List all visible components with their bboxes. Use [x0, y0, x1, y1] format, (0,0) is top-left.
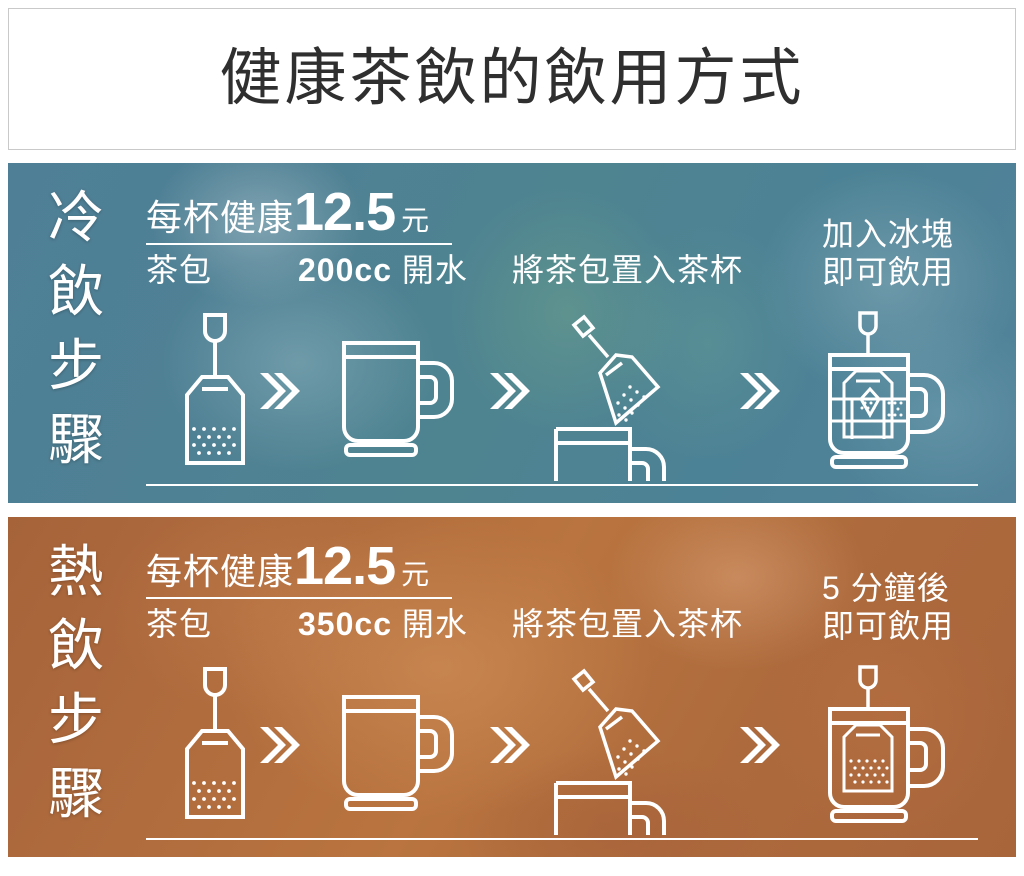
step-2-amount: 200cc: [298, 252, 392, 288]
side-label-char: 冷: [30, 181, 122, 255]
side-label-hot: 熱 飲 步 驟: [30, 535, 122, 841]
step-3-caption: 將茶包置入茶杯: [512, 605, 743, 643]
mug-with-tea-bag-and-ice-icon: [818, 311, 968, 471]
step-3-caption: 將茶包置入茶杯: [512, 251, 743, 289]
step-2-caption: 350cc 開水: [298, 605, 468, 643]
step-2-caption: 200cc 開水: [298, 251, 468, 289]
section-cold-drink: 冷 飲 步 驟 每杯健康 12.5 元 茶包 200cc 開水 將茶包置入茶杯 …: [8, 163, 1016, 503]
infographic-root: 健康茶飲的飲用方式 冷 飲 步 驟 每杯健康 12.5 元 茶包 200c: [0, 0, 1024, 876]
step-4-caption-line2: 即可飲用: [822, 253, 954, 291]
side-label-char: 驟: [30, 403, 122, 477]
step-1-caption: 茶包: [146, 605, 212, 643]
double-chevron-icon: [738, 721, 778, 769]
hot-baseline-rule: [146, 838, 978, 840]
side-label-char: 飲: [30, 609, 122, 683]
tea-bag-into-mug-icon: [548, 665, 698, 825]
step-icons-cold: [138, 311, 998, 471]
side-label-char: 熱: [30, 535, 122, 609]
price-amount: 12.5: [294, 185, 395, 239]
side-label-char: 步: [30, 683, 122, 757]
double-chevron-icon: [258, 721, 298, 769]
price-block-hot: 每杯健康 12.5 元: [146, 539, 456, 599]
price-underline: [146, 243, 452, 245]
step-icons-hot: [138, 665, 998, 825]
step-2-rest: 開水: [392, 252, 468, 288]
price-underline: [146, 597, 452, 599]
price-amount: 12.5: [294, 539, 395, 593]
step-4-caption-line1: 5 分鐘後: [822, 569, 954, 607]
price-prefix: 每杯健康: [146, 552, 294, 592]
price-unit: 元: [401, 560, 429, 590]
side-label-char: 步: [30, 329, 122, 403]
step-captions-hot: 茶包 350cc 開水 將茶包置入茶杯 5 分鐘後 即可飲用: [146, 601, 996, 671]
step-4-caption: 5 分鐘後 即可飲用: [822, 569, 954, 645]
price-unit: 元: [401, 206, 429, 236]
side-label-char: 飲: [30, 255, 122, 329]
mug-with-tea-bag-icon: [818, 665, 968, 825]
step-captions-cold: 茶包 200cc 開水 將茶包置入茶杯 加入冰塊 即可飲用: [146, 247, 996, 317]
step-2-amount: 350cc: [298, 606, 392, 642]
step-4-caption-line1: 加入冰塊: [822, 215, 954, 253]
step-4-caption-line2: 即可飲用: [822, 607, 954, 645]
page-title: 健康茶飲的飲用方式: [219, 48, 804, 110]
side-label-cold: 冷 飲 步 驟: [30, 181, 122, 487]
side-label-char: 驟: [30, 757, 122, 831]
tea-bag-into-mug-icon: [548, 311, 698, 471]
mug-icon: [328, 311, 468, 471]
double-chevron-icon: [738, 367, 778, 415]
price-block-cold: 每杯健康 12.5 元: [146, 185, 456, 245]
cold-baseline-rule: [146, 484, 978, 486]
double-chevron-icon: [258, 367, 298, 415]
double-chevron-icon: [488, 721, 528, 769]
step-1-caption: 茶包: [146, 251, 212, 289]
double-chevron-icon: [488, 367, 528, 415]
step-2-rest: 開水: [392, 606, 468, 642]
price-prefix: 每杯健康: [146, 198, 294, 238]
mug-icon: [328, 665, 468, 825]
step-4-caption: 加入冰塊 即可飲用: [822, 215, 954, 291]
title-box: 健康茶飲的飲用方式: [8, 8, 1016, 150]
section-hot-drink: 熱 飲 步 驟 每杯健康 12.5 元 茶包 350cc 開水 將茶包置入茶杯 …: [8, 517, 1016, 857]
